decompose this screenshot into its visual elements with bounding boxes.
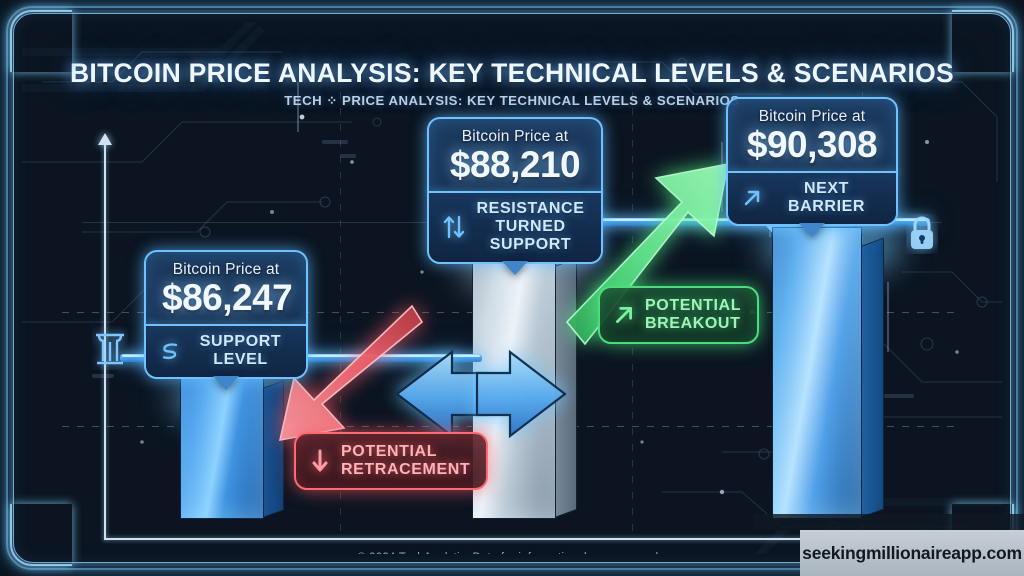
up-down-arrows-icon: [443, 214, 465, 240]
arrow-up-right-icon: [742, 188, 762, 208]
scenario-label-line1: POTENTIAL: [341, 443, 437, 460]
callout-resistance-turned-support[interactable]: Bitcoin Price at $88,210 RESISTANCE TURN…: [427, 117, 603, 264]
scenario-pill-breakout[interactable]: POTENTIAL BREAKOUT: [598, 286, 759, 344]
callout-tag-row: SUPPORT LEVEL: [146, 326, 306, 377]
callout-next-barrier[interactable]: Bitcoin Price at $90,308 NEXT BARRIER: [726, 97, 898, 226]
callout-price: $86,247: [162, 279, 290, 317]
arrow-down-icon: [309, 448, 331, 474]
scenario-label: POTENTIAL RETRACEMENT: [341, 443, 470, 479]
arrow-up-right-icon: [613, 304, 635, 326]
scenario-label: POTENTIAL BREAKOUT: [645, 297, 741, 333]
page-title: BITCOIN PRICE ANALYSIS: KEY TECHNICAL LE…: [22, 58, 1002, 89]
scenario-label-line1: POTENTIAL: [645, 297, 741, 314]
bidirectional-arrows-icon: [397, 352, 565, 436]
callout-pointer: [213, 376, 239, 390]
pillar-icon: [92, 326, 128, 370]
watermark-text: seekingmillionaireapp.com: [802, 543, 1022, 564]
lock-icon: [906, 214, 938, 254]
scenario-pill-retracement[interactable]: POTENTIAL RETRACEMENT: [294, 432, 488, 490]
callout-tag-row: NEXT BARRIER: [728, 173, 896, 224]
scenario-label-line2: RETRACEMENT: [341, 461, 470, 478]
callout-price: $88,210: [445, 146, 585, 184]
watermark-strip: [754, 514, 1024, 530]
scenario-label-line2: BREAKOUT: [645, 315, 740, 332]
callout-body: Bitcoin Price at $90,308: [728, 99, 896, 171]
callout-tag: SUPPORT LEVEL: [189, 333, 292, 369]
callout-price: $90,308: [744, 126, 880, 164]
infographic-inner: BITCOIN PRICE ANALYSIS: KEY TECHNICAL LE…: [22, 22, 1002, 554]
callout-pointer: [799, 223, 825, 237]
support-swoosh-icon: [160, 341, 180, 361]
callout-tag-row: RESISTANCE TURNED SUPPORT: [429, 193, 601, 262]
callout-body: Bitcoin Price at $88,210: [429, 119, 601, 191]
callout-tag: NEXT BARRIER: [771, 180, 882, 216]
callout-tag: RESISTANCE TURNED SUPPORT: [474, 200, 587, 254]
infographic-canvas: BITCOIN PRICE ANALYSIS: KEY TECHNICAL LE…: [0, 0, 1024, 576]
watermark[interactable]: seekingmillionaireapp.com: [800, 530, 1024, 576]
callout-pointer: [502, 261, 528, 275]
callout-body: Bitcoin Price at $86,247: [146, 252, 306, 324]
callout-support-level[interactable]: Bitcoin Price at $86,247 SUPPORT LEVEL: [144, 250, 308, 379]
